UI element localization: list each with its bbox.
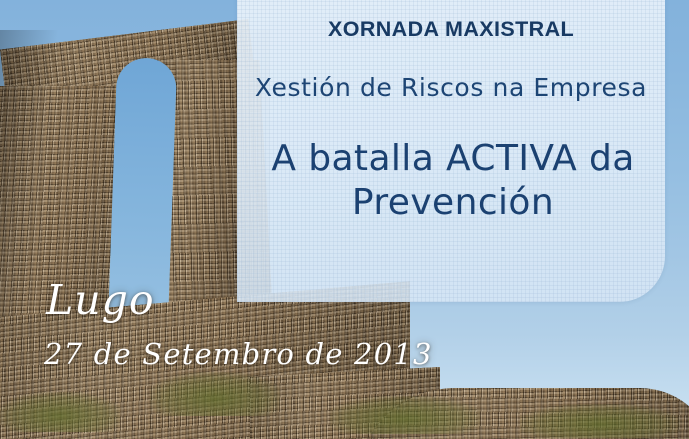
event-kicker: XORNADA MAXISTRAL: [237, 18, 665, 42]
event-main-title: A batalla ACTIVA da Prevención: [253, 137, 653, 225]
event-location: Lugo: [46, 280, 155, 321]
event-subtitle: Xestión de Riscos na Empresa: [237, 74, 665, 102]
title-panel-content: XORNADA MAXISTRAL Xestión de Riscos na E…: [237, 0, 665, 302]
title-panel: XORNADA MAXISTRAL Xestión de Riscos na E…: [237, 0, 665, 302]
event-date: 27 de Setembro de 2013: [44, 340, 433, 369]
event-poster: XORNADA MAXISTRAL Xestión de Riscos na E…: [0, 0, 689, 439]
